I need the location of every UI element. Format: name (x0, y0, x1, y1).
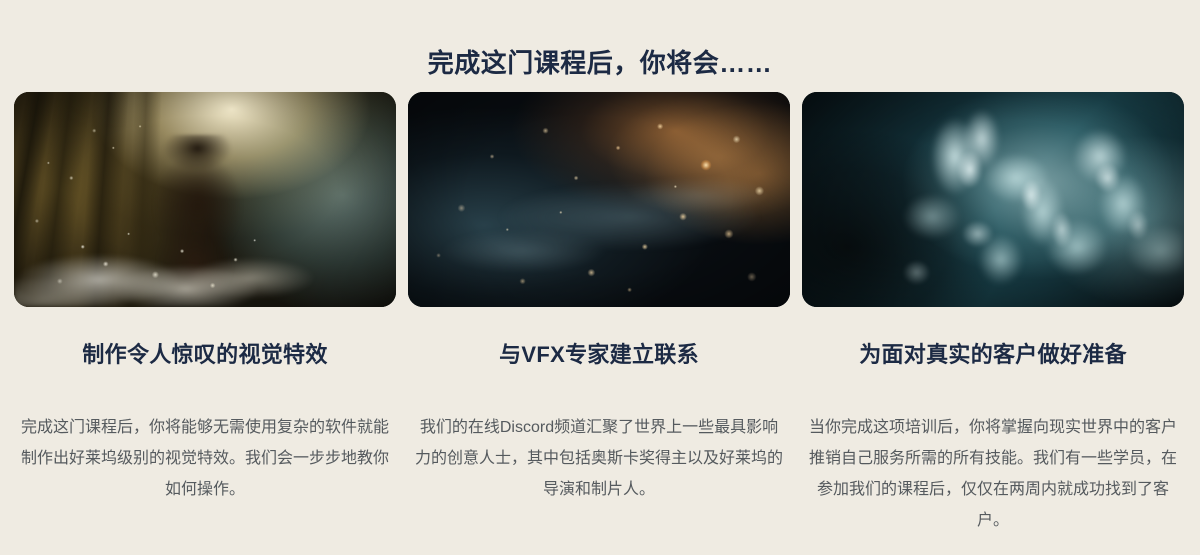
image-vignette-layer (14, 92, 396, 307)
section-title: 完成这门课程后，你将会…… (0, 48, 1200, 79)
warrior-running-through-golden-water-image (14, 92, 396, 307)
benefit-card-body: 我们的在线Discord频道汇聚了世界上一些最具影响力的创意人士，其中包括奥斯卡… (414, 412, 784, 506)
benefit-card-body: 完成这门课程后，你将能够无需使用复杂的软件就能制作出好莱坞级别的视觉特效。我们会… (20, 412, 390, 506)
benefits-section: 完成这门课程后，你将会…… 制作令人惊叹的视觉特效 完成这门课程后，你将能够无需… (0, 0, 1200, 555)
benefit-card-title: 为面对真实的客户做好准备 (859, 341, 1127, 370)
benefit-card-title: 与VFX专家建立联系 (499, 341, 699, 370)
image-vignette-layer (802, 92, 1184, 307)
golden-sparks-over-dark-smoke-image (408, 92, 790, 307)
benefit-card-body: 当你完成这项培训后，你将掌握向现实世界中的客户推销自己服务所需的所有技能。我们有… (808, 412, 1178, 537)
teal-wispy-smoke-image (802, 92, 1184, 307)
benefit-card: 制作令人惊叹的视觉特效 完成这门课程后，你将能够无需使用复杂的软件就能制作出好莱… (14, 92, 396, 521)
benefit-card: 为面对真实的客户做好准备 当你完成这项培训后，你将掌握向现实世界中的客户推销自己… (802, 92, 1184, 552)
benefit-card: 与VFX专家建立联系 我们的在线Discord频道汇聚了世界上一些最具影响力的创… (408, 92, 790, 521)
benefit-card-list: 制作令人惊叹的视觉特效 完成这门课程后，你将能够无需使用复杂的软件就能制作出好莱… (14, 92, 1186, 552)
image-vignette-layer (408, 92, 790, 307)
benefit-card-title: 制作令人惊叹的视觉特效 (82, 341, 327, 370)
